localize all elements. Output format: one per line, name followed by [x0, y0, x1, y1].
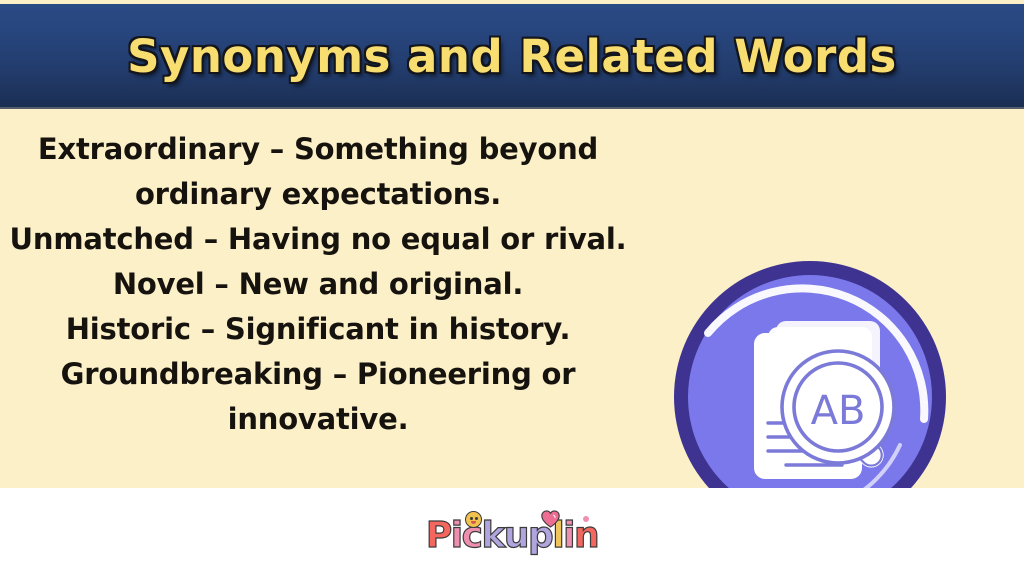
list-item: Groundbreaking – Pioneering or innovativ… [8, 352, 628, 442]
smiley-eye-right [475, 517, 478, 520]
definition-list: Extraordinary – Something beyond ordinar… [8, 127, 628, 442]
footer-bar: Pickuplin [0, 488, 1024, 576]
brand-logo[interactable]: Pickuplin [437, 510, 587, 554]
list-item: Extraordinary – Something beyond ordinar… [8, 127, 628, 217]
logo-letter: k [481, 515, 503, 556]
heart-icon [541, 510, 560, 528]
poster-page: Synonyms and Related Words Extraordinary… [0, 0, 1024, 576]
logo-letter: i [563, 515, 574, 556]
list-item: Novel – New and original. [8, 262, 628, 307]
badge-letters: AB [811, 388, 866, 434]
trademark-dot-icon [583, 516, 589, 522]
smiley-face-icon [465, 511, 482, 528]
header-bar: Synonyms and Related Words [0, 4, 1024, 109]
smiley-mouth [471, 521, 476, 524]
content-area: Extraordinary – Something beyond ordinar… [0, 109, 1024, 488]
logo-letter: P [426, 515, 451, 556]
brand-logo-text: Pickuplin [426, 518, 598, 554]
smiley-eye-left [470, 517, 473, 520]
list-item: Historic – Significant in history. [8, 307, 628, 352]
list-item: Unmatched – Having no equal or rival. [8, 217, 628, 262]
logo-letter: u [504, 515, 528, 556]
page-title: Synonyms and Related Words [127, 30, 897, 83]
logo-letter: i [451, 515, 462, 556]
